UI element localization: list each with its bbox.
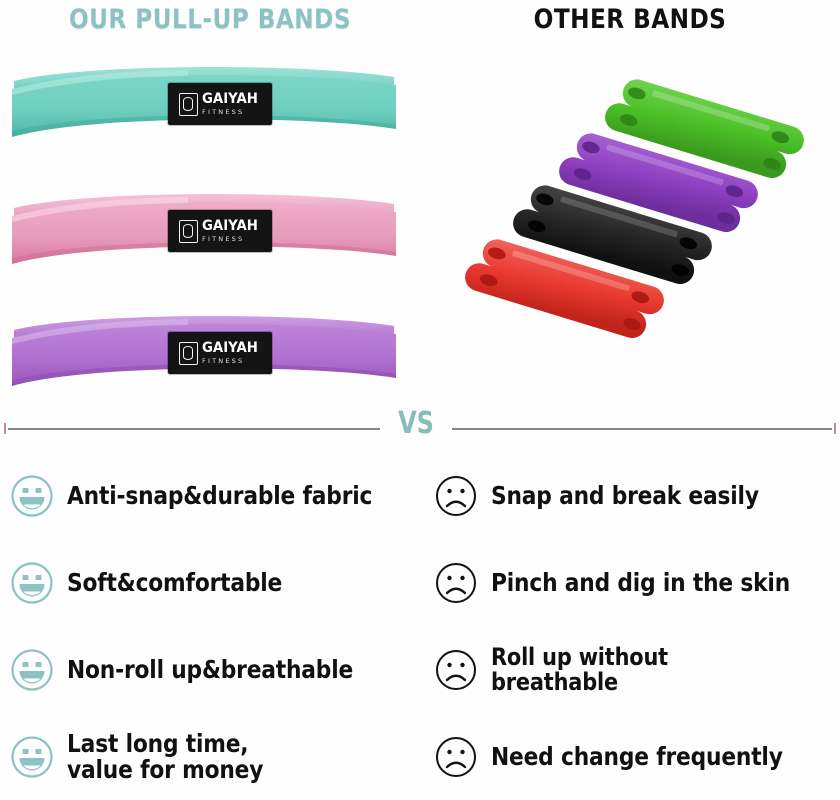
divider-cap-left [4, 423, 6, 434]
comparison-infographic: OUR PULL-UP BANDS OTHER BANDS [0, 0, 840, 800]
sad-face-icon [434, 648, 478, 692]
heading-our-bands: OUR PULL-UP BANDS [29, 4, 390, 35]
gaiyah-logo-icon [179, 220, 198, 243]
pro-text: Soft&comfortable [67, 570, 282, 596]
con-cell: Roll up without breathable [430, 626, 840, 713]
happy-face-icon [10, 648, 54, 692]
happy-face-icon [10, 561, 54, 605]
happy-face-icon [10, 474, 54, 518]
vs-divider: VS [0, 405, 840, 453]
sad-face-icon [434, 561, 478, 605]
gaiyah-logo-icon [179, 342, 198, 365]
heading-other-bands: OTHER BANDS [449, 4, 810, 35]
comparison-row: Non-roll up&breathable Roll up without b… [0, 626, 840, 713]
pro-cell: Soft&comfortable [0, 539, 430, 626]
brand-label-purple: GAIYAH FITNESS [168, 332, 272, 374]
con-cell: Pinch and dig in the skin [430, 539, 840, 626]
pro-text: Non-roll up&breathable [67, 657, 353, 683]
sad-face-icon [434, 735, 478, 779]
divider-line-left [8, 428, 380, 430]
pro-text: Last long time, value for money [67, 731, 263, 783]
con-text: Pinch and dig in the skin [491, 570, 790, 596]
pro-cell: Last long time, value for money [0, 713, 430, 800]
pro-cell: Anti-snap&durable fabric [0, 452, 430, 539]
sad-face-icon [434, 474, 478, 518]
con-text: Roll up without breathable [491, 645, 795, 695]
happy-face-icon [10, 735, 54, 779]
pro-cell: Non-roll up&breathable [0, 626, 430, 713]
brand-label-teal: GAIYAH FITNESS [168, 83, 272, 125]
fabric-band-pink: GAIYAH FITNESS [8, 182, 400, 278]
divider-cap-right [834, 423, 836, 434]
con-cell: Snap and break easily [430, 452, 840, 539]
brand-name: GAIYAH [202, 92, 258, 106]
comparison-row: Last long time, value for money Need cha… [0, 713, 840, 800]
brand-subtitle: FITNESS [202, 236, 261, 243]
comparison-row: Soft&comfortable Pinch and dig in the sk… [0, 539, 840, 626]
brand-name: GAIYAH [202, 341, 258, 355]
comparison-row: Anti-snap&durable fabric Snap and break … [0, 452, 840, 539]
brand-subtitle: FITNESS [202, 358, 261, 365]
con-cell: Need change frequently [430, 713, 840, 800]
divider-line-right [452, 428, 832, 430]
other-bands-group [440, 55, 835, 400]
brand-label-pink: GAIYAH FITNESS [168, 210, 272, 252]
con-text: Snap and break easily [491, 483, 759, 509]
comparison-list: Anti-snap&durable fabric Snap and break … [0, 452, 840, 800]
brand-subtitle: FITNESS [202, 109, 261, 116]
con-text: Need change frequently [491, 744, 783, 770]
brand-text-block: GAIYAH FITNESS [202, 219, 261, 243]
brand-name: GAIYAH [202, 219, 258, 233]
fabric-band-purple: GAIYAH FITNESS [8, 304, 400, 400]
brand-text-block: GAIYAH FITNESS [202, 92, 261, 116]
fabric-band-teal: GAIYAH FITNESS [8, 55, 400, 151]
pro-text: Anti-snap&durable fabric [67, 483, 372, 509]
vs-label: VS [390, 406, 443, 441]
brand-text-block: GAIYAH FITNESS [202, 341, 261, 365]
gaiyah-logo-icon [179, 93, 198, 116]
